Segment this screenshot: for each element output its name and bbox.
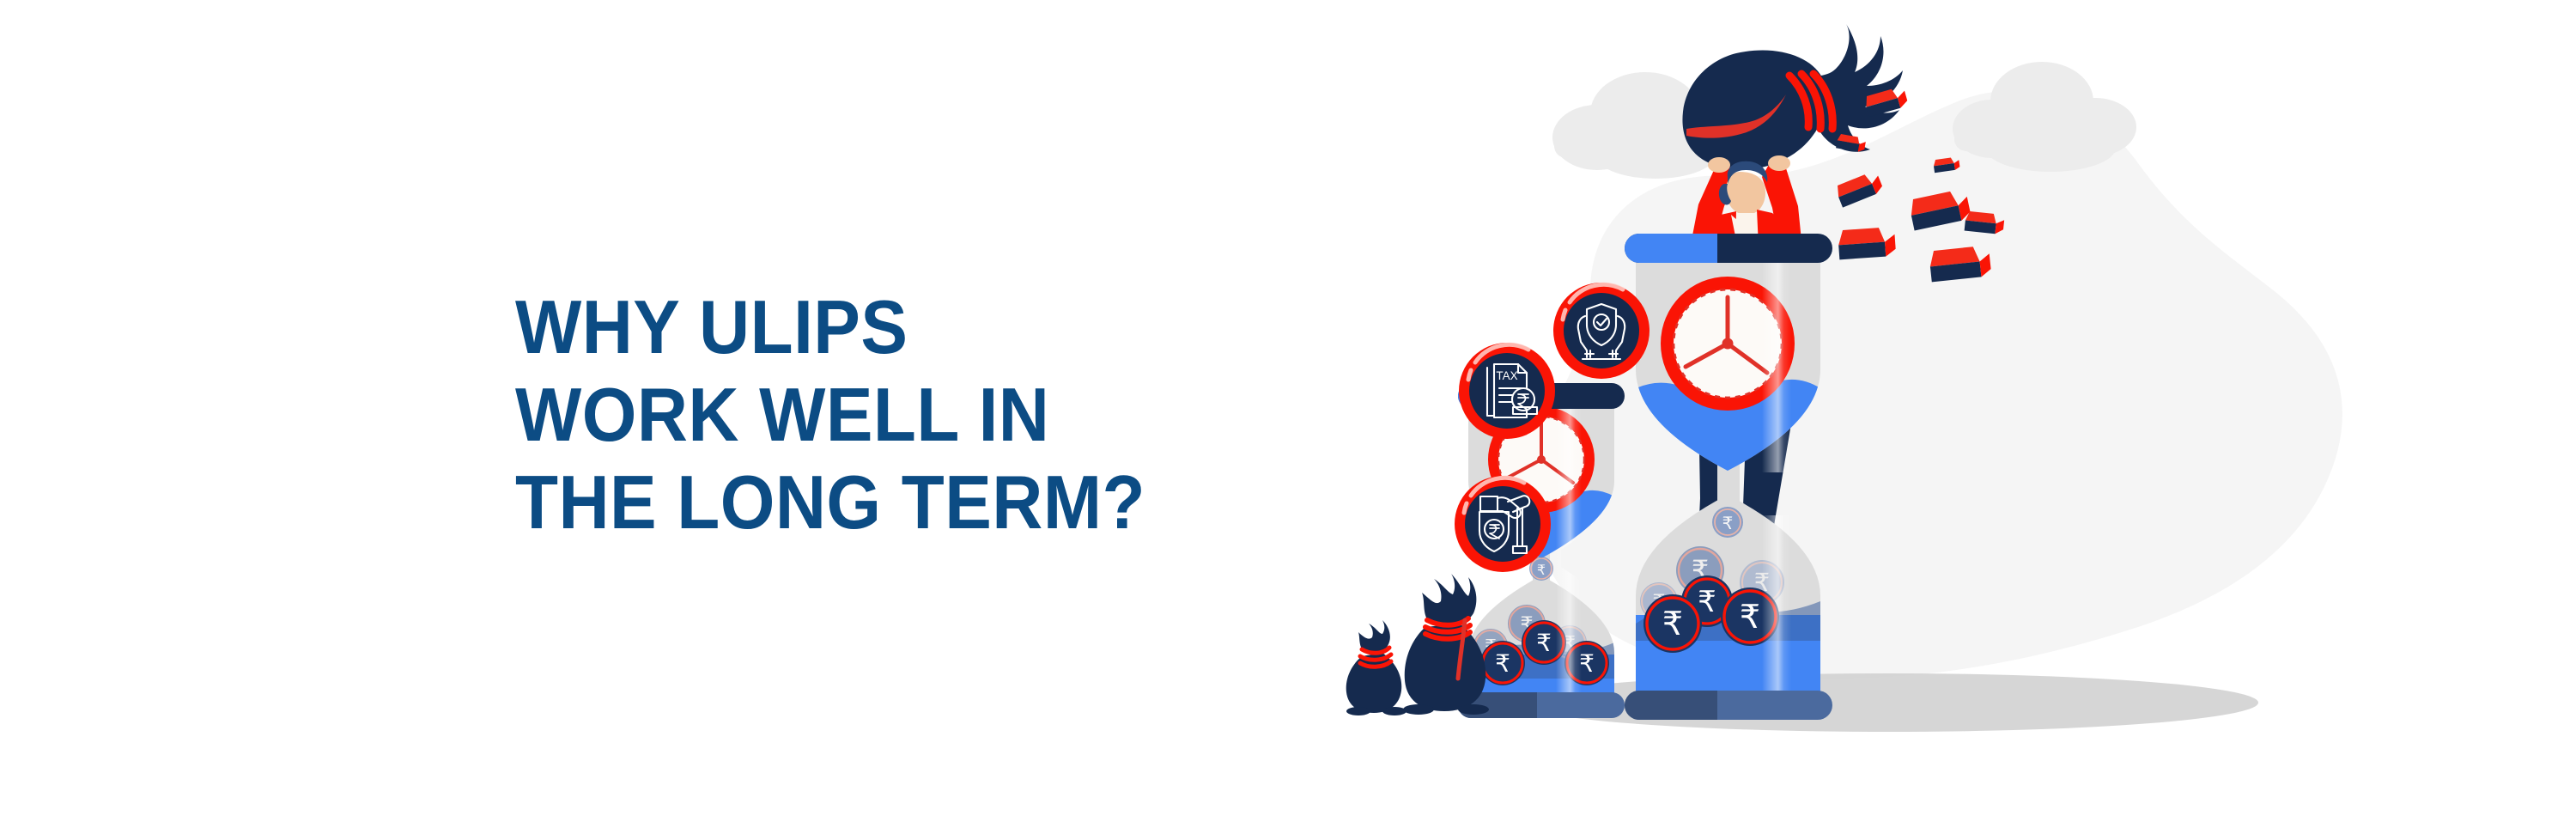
headline-line-1: WHY ULIPS (515, 283, 1234, 371)
hero-illustration: ₹ ₹ ₹ ₹ ₹ (1340, 0, 2576, 828)
money-bag-large (1403, 574, 1489, 715)
banner-root: WHY ULIPS WORK WELL IN THE LONG TERM? (0, 0, 2576, 828)
headline-line-3: THE LONG TERM? (515, 459, 1234, 546)
hourglass-cap-top-large (1625, 234, 1832, 263)
svg-text:₹: ₹ (1495, 650, 1510, 677)
page-title: WHY ULIPS WORK WELL IN THE LONG TERM? (515, 283, 1288, 546)
svg-text:₹: ₹ (1740, 600, 1760, 636)
svg-text:₹: ₹ (1722, 514, 1734, 533)
money-bag-small (1346, 620, 1406, 715)
svg-text:₹: ₹ (1662, 606, 1683, 642)
tax-icon-label: TAX (1496, 369, 1517, 382)
headline-line-2: WORK WELL IN (515, 371, 1234, 459)
coin-falling-large: ₹ (1712, 507, 1743, 538)
cloud-right (1953, 62, 2136, 172)
badge-protection[interactable] (1553, 283, 1649, 379)
hourglass-cap-bottom-small (1458, 692, 1625, 718)
badge-tax[interactable]: TAX (1459, 343, 1555, 439)
svg-text:₹: ₹ (1698, 586, 1716, 618)
svg-text:₹: ₹ (1537, 563, 1546, 578)
svg-text:₹: ₹ (1536, 630, 1552, 656)
badge-secure-returns[interactable] (1455, 476, 1551, 572)
hourglass-cap-bottom-large (1625, 691, 1832, 720)
